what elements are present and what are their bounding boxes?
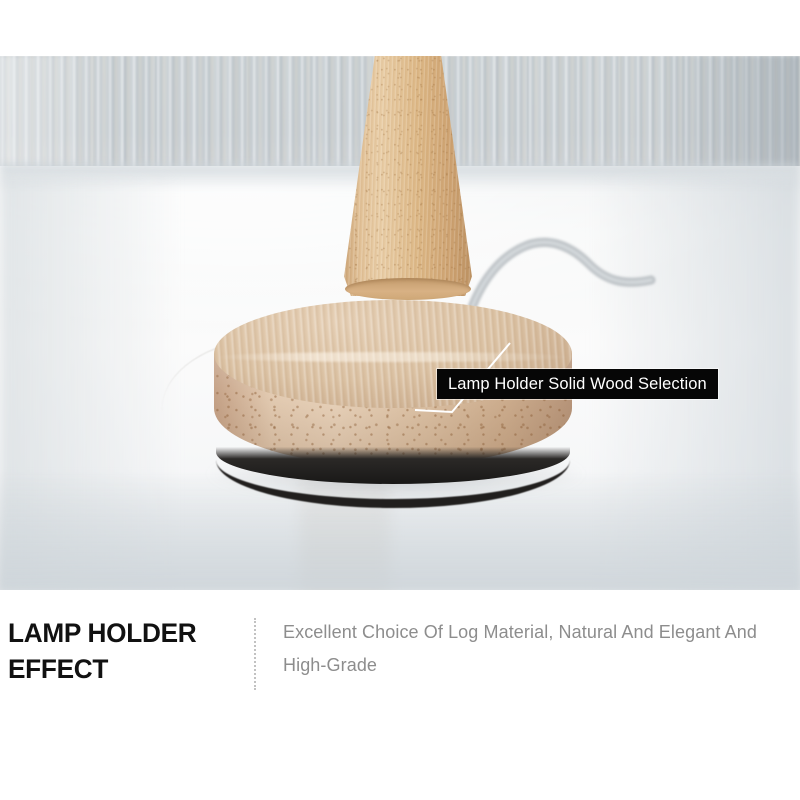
lamp-base-rim-highlight bbox=[214, 352, 572, 362]
product-photo: Lamp Holder Solid Wood Selection bbox=[0, 56, 800, 590]
callout-label: Lamp Holder Solid Wood Selection bbox=[437, 369, 718, 399]
footer-content: LAMP HOLDER EFFECT Excellent Choice Of L… bbox=[8, 616, 792, 690]
footer-section: LAMP HOLDER EFFECT Excellent Choice Of L… bbox=[0, 590, 800, 800]
footer-headline: LAMP HOLDER EFFECT bbox=[8, 616, 247, 687]
footer-description: Excellent Choice Of Log Material, Natura… bbox=[257, 616, 792, 683]
callout-label-text: Lamp Holder Solid Wood Selection bbox=[448, 376, 707, 393]
product-detail-page: Lamp Holder Solid Wood Selection LAMP HO… bbox=[0, 0, 800, 800]
felt-pad-rim bbox=[216, 412, 570, 508]
lamp-post-foot bbox=[345, 278, 471, 300]
